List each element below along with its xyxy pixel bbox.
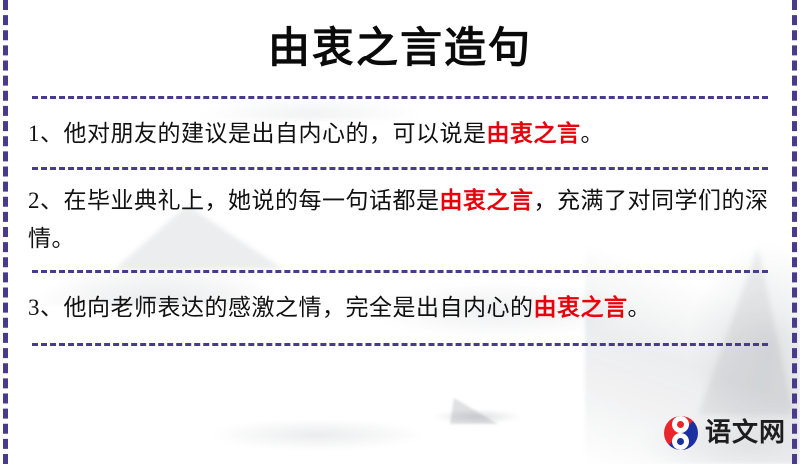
sentence-1-number: 1、 (28, 121, 64, 146)
sentence-2-number: 2、 (28, 188, 64, 213)
yinyang-swirl-icon (664, 416, 698, 450)
slide-canvas: 由衷之言造句 1、他对朋友的建议是出自内心的，可以说是由衷之言。 2、在毕业典礼… (0, 0, 800, 464)
sentence-2-idiom: 由衷之言 (440, 188, 534, 213)
sentence-3-number: 3、 (28, 295, 64, 320)
site-logo-label: 语文网 (705, 420, 786, 446)
sentence-3-idiom: 由衷之言 (534, 295, 628, 320)
site-logo[interactable]: 语文网 (664, 416, 786, 450)
sentence-item-1: 1、他对朋友的建议是出自内心的，可以说是由衷之言。 (20, 99, 780, 167)
sentence-1-text-after: 。 (581, 121, 605, 146)
slide-content: 由衷之言造句 1、他对朋友的建议是出自内心的，可以说是由衷之言。 2、在毕业典礼… (0, 0, 800, 464)
sentence-1-text-before: 他对朋友的建议是出自内心的，可以说是 (64, 121, 487, 146)
sentence-3-text-after: 。 (628, 295, 652, 320)
sentence-1-idiom: 由衷之言 (487, 121, 581, 146)
sentence-3-text-before: 他向老师表达的感激之情，完全是出自内心的 (64, 295, 534, 320)
sentence-item-2: 2、在毕业典礼上，她说的每一句话都是由衷之言，充满了对同学们的深情。 (20, 170, 780, 270)
sentence-item-3: 3、他向老师表达的感激之情，完全是出自内心的由衷之言。 (20, 273, 780, 343)
divider-4 (32, 343, 768, 346)
page-title: 由衷之言造句 (20, 0, 780, 96)
sentence-2-text-before: 在毕业典礼上，她说的每一句话都是 (64, 188, 440, 213)
